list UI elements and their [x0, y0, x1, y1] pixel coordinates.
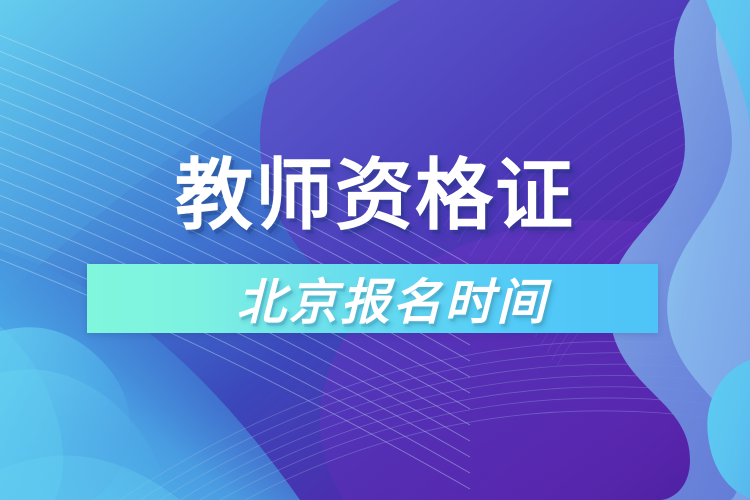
- banner-subtitle: 北京报名时间: [87, 264, 658, 333]
- banner-content: 教师资格证 北京报名时间: [0, 0, 750, 500]
- promo-banner: 教师资格证 北京报名时间: [0, 0, 750, 500]
- banner-title: 教师资格证: [0, 148, 750, 244]
